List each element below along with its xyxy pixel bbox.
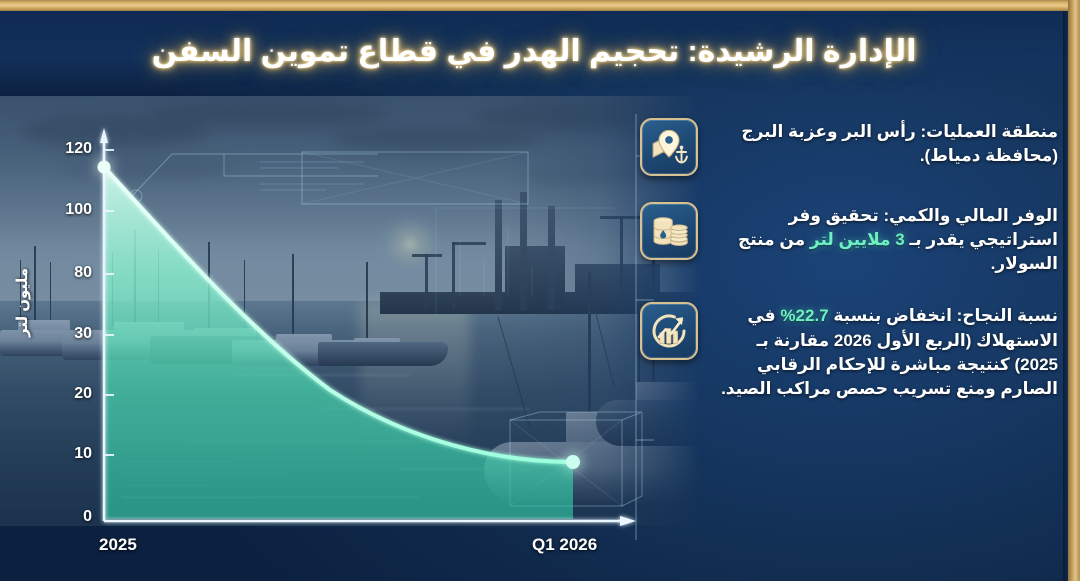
chart-y-tick-label: 10 bbox=[48, 445, 92, 463]
map-pin-anchor-glyph bbox=[649, 127, 689, 167]
info-card-lead: الوفر المالي والكمي: bbox=[883, 206, 1058, 225]
chart-y-tick-label: 20 bbox=[48, 385, 92, 403]
info-card-text: منطقة العمليات: رأس البر وعزبة البرج (مح… bbox=[712, 118, 1058, 168]
map-pin-anchor-icon bbox=[640, 118, 698, 176]
chart-x-tick-label: 2025 bbox=[99, 535, 137, 555]
chart-y-tick-label: 0 bbox=[48, 508, 92, 526]
chart-y-axis-title: مليون لتر bbox=[14, 268, 32, 337]
chart-y-tick-label: 120 bbox=[48, 140, 92, 158]
info-card-operations-area[interactable]: منطقة العمليات: رأس البر وعزبة البرج (مح… bbox=[640, 118, 1058, 176]
info-card-success-rate[interactable]: نسبة النجاح: انخفاض بنسبة 22.7% في الاست… bbox=[640, 302, 1058, 401]
info-card-lead: نسبة النجاح: bbox=[957, 306, 1058, 325]
info-card-text: نسبة النجاح: انخفاض بنسبة 22.7% في الاست… bbox=[712, 302, 1058, 401]
chart-y-tick-label: 80 bbox=[48, 264, 92, 282]
page-title: الإدارة الرشيدة: تحجيم الهدر في قطاع تمو… bbox=[0, 34, 1068, 69]
gold-right-border bbox=[1068, 0, 1080, 581]
chart-point-end bbox=[566, 455, 580, 469]
chart-y-tick-label: 30 bbox=[48, 325, 92, 343]
info-card-highlight: 3 ملايين لتر bbox=[810, 230, 905, 249]
gold-top-border bbox=[0, 0, 1080, 11]
infographic-root: الإدارة الرشيدة: تحجيم الهدر في قطاع تمو… bbox=[0, 0, 1080, 581]
barrel bbox=[654, 218, 672, 245]
chart-y-tick-label: 100 bbox=[48, 201, 92, 219]
info-card-text: الوفر المالي والكمي: تحقيق وفر استراتيجي… bbox=[712, 202, 1058, 276]
oil-barrel-coins-glyph bbox=[649, 211, 689, 251]
oil-barrel-coins-icon bbox=[640, 202, 698, 260]
chart-area-fill bbox=[104, 167, 573, 519]
info-card-body-before: انخفاض بنسبة bbox=[829, 306, 957, 325]
info-panel-column: منطقة العمليات: رأس البر وعزبة البرج (مح… bbox=[640, 118, 1058, 401]
info-card-financial-savings[interactable]: الوفر المالي والكمي: تحقيق وفر استراتيجي… bbox=[640, 202, 1058, 276]
chart-point-start bbox=[98, 161, 111, 174]
coin-stack bbox=[671, 225, 688, 246]
growth-chart-icon bbox=[640, 302, 698, 360]
chart-x-tick-label: Q1 2026 bbox=[532, 535, 597, 555]
info-card-lead: منطقة العمليات: bbox=[920, 122, 1058, 141]
growth-chart-glyph bbox=[649, 311, 689, 351]
info-card-highlight: 22.7% bbox=[780, 306, 828, 325]
